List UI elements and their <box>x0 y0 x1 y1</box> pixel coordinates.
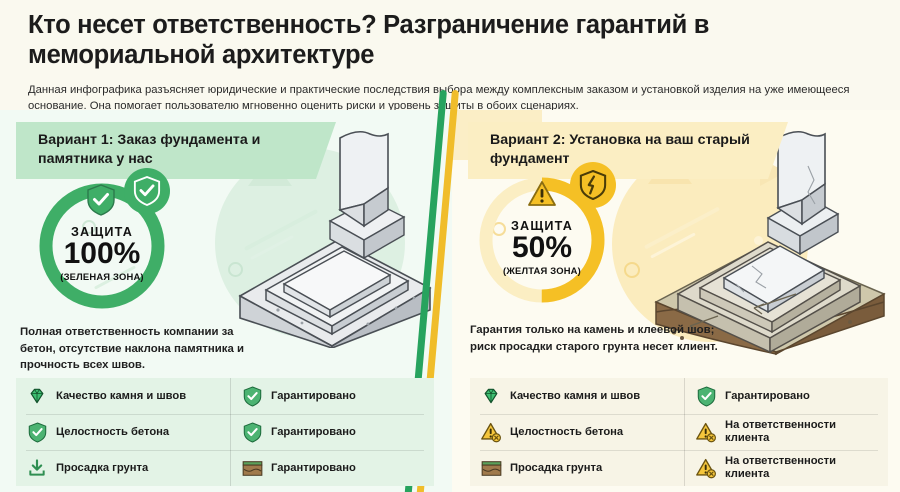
shield-check-icon <box>241 385 263 407</box>
shield-check-icon <box>695 385 717 407</box>
status-label: Гарантировано <box>271 426 356 439</box>
right-panel-title-tag: Вариант 2: Установка на ваш старый фунда… <box>468 122 788 179</box>
table-row: Просадка грунта Гарантировано <box>16 450 434 486</box>
left-comparison-table: Качество камня и швов Гарантировано Цело… <box>16 378 434 486</box>
status-label: Гарантировано <box>725 390 810 403</box>
feature-label: Целостность бетона <box>510 426 623 438</box>
feature-label: Целостность бетона <box>56 426 169 438</box>
left-shield-badge <box>124 168 170 214</box>
table-cell-feature: Качество камня и швов <box>16 378 231 414</box>
table-cell-status: Гарантировано <box>231 378 434 414</box>
warning-triangle-icon <box>527 180 557 208</box>
soil-layers-icon <box>241 457 263 479</box>
feature-label: Качество камня и швов <box>56 390 186 402</box>
diamond-icon <box>480 385 502 407</box>
table-cell-feature: Просадка грунта <box>470 450 685 486</box>
right-shield-badge <box>570 162 616 208</box>
settlement-down-icon <box>26 457 48 479</box>
infographic-page: Кто несет ответственность? Разграничение… <box>0 0 900 492</box>
status-label: Гарантировано <box>271 390 356 403</box>
diamond-icon <box>26 385 48 407</box>
table-cell-feature: Целостность бетона <box>470 414 685 450</box>
table-cell-feature: Качество камня и швов <box>470 378 685 414</box>
warning-excluded-icon <box>695 457 717 479</box>
shield-check-icon <box>133 176 161 206</box>
deco-ring <box>624 262 640 278</box>
feature-label: Просадка грунта <box>56 462 148 474</box>
left-donut-percent: 100% <box>64 238 141 270</box>
table-cell-status: На ответственности клиента <box>685 414 888 450</box>
feature-label: Качество камня и швов <box>510 390 640 402</box>
soil-layers-icon <box>480 457 502 479</box>
divider-stripe-yellow <box>452 110 466 492</box>
left-panel-title-tag: Вариант 1: Заказ фундамента и памятника … <box>16 122 336 179</box>
shield-check-icon <box>26 421 48 443</box>
status-label: На ответственности клиента <box>725 419 880 445</box>
right-donut-zone: (ЖЕЛТАЯ ЗОНА) <box>503 265 581 276</box>
table-cell-status: На ответственности клиента <box>685 450 888 486</box>
page-title: Кто несет ответственность? Разграничение… <box>28 10 728 70</box>
table-cell-status: Гарантировано <box>231 414 434 450</box>
right-comparison-table: Качество камня и швов Гарантировано Цело… <box>470 378 888 486</box>
table-row: Целостность бетона Гарантировано <box>16 414 434 450</box>
table-row: Качество камня и швов Гарантировано <box>470 378 888 414</box>
right-donut-percent: 50% <box>512 232 572 264</box>
left-donut-zone: (ЗЕЛЕНАЯ ЗОНА) <box>60 271 143 282</box>
shield-check-icon <box>86 184 116 216</box>
shield-check-icon <box>241 421 263 443</box>
left-panel-description: Полная ответственность компании за бетон… <box>20 324 270 374</box>
table-cell-status: Гарантировано <box>231 450 434 486</box>
table-row: Просадка грунта На ответственности клиен… <box>470 450 888 486</box>
shield-cracked-icon <box>579 170 607 200</box>
right-panel-description: Гарантия только на камень и клеевой шов;… <box>470 322 720 355</box>
status-label: Гарантировано <box>271 462 356 475</box>
table-cell-feature: Просадка грунта <box>16 450 231 486</box>
table-row: Качество камня и швов Гарантировано <box>16 378 434 414</box>
warning-excluded-icon <box>695 421 717 443</box>
table-row: Целостность бетона На ответственности кл… <box>470 414 888 450</box>
table-cell-status: Гарантировано <box>685 378 888 414</box>
feature-label: Просадка грунта <box>510 462 602 474</box>
table-cell-feature: Целостность бетона <box>16 414 231 450</box>
status-label: На ответственности клиента <box>725 455 880 481</box>
warning-excluded-icon <box>480 421 502 443</box>
